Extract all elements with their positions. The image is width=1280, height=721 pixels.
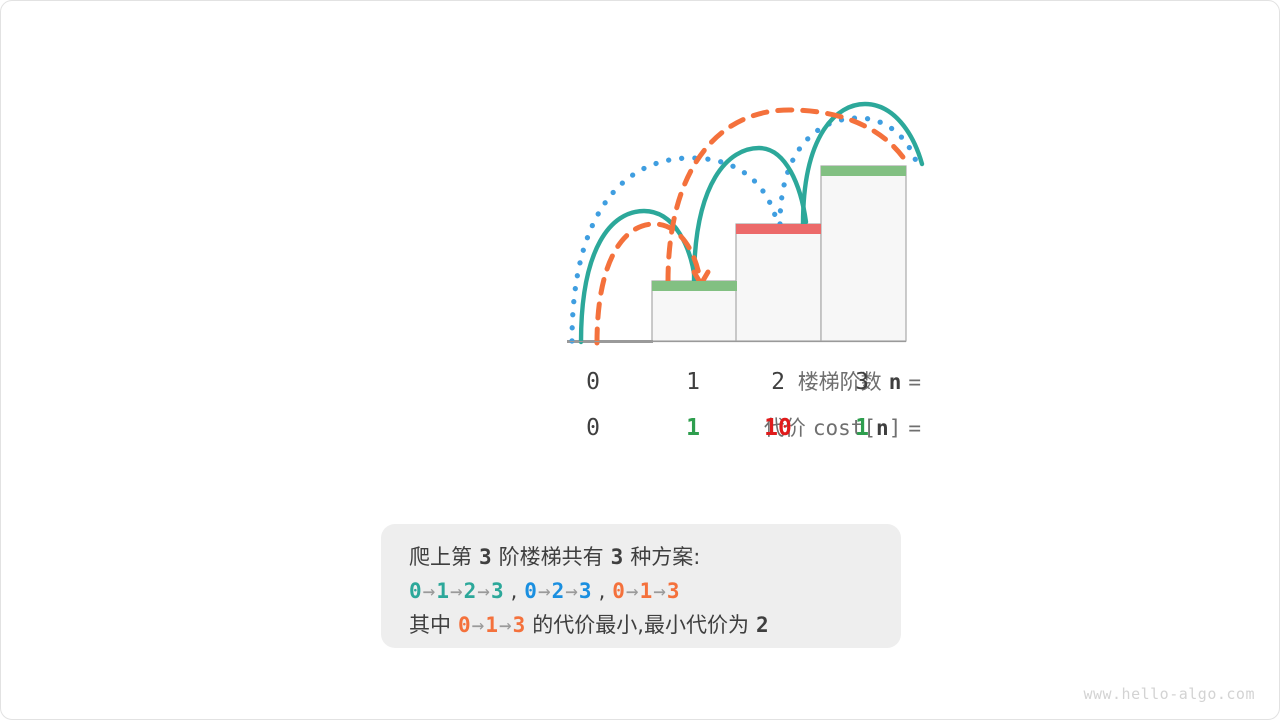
row-label-n-eq: = [908,370,921,394]
path-node: 1 [640,579,653,603]
watermark: www.hello-algo.com [1083,685,1255,703]
path-arrow-icon: → [422,579,437,603]
step-body-2 [736,224,821,341]
path-node: 2 [464,579,477,603]
staircase-diagram [541,96,941,356]
path-0-1-3: 0→1→3 [612,579,679,603]
path-node: 1 [436,579,449,603]
path-node: 3 [667,579,680,603]
path-separator-2: , [592,579,613,603]
step-top-3-green [821,166,906,176]
cell-cost-0: 0 [571,413,615,443]
path-node: 2 [552,579,565,603]
path-arrow-icon: → [498,613,513,637]
line1-prefix: 爬上第 [409,545,472,569]
row-label-n-var: n [889,370,902,394]
path-node: 0 [409,579,422,603]
path-separator-1: , [504,579,525,603]
path-0-2-3: 0→2→3 [524,579,591,603]
path-node: 1 [485,613,498,637]
row-label-cost-post: ] [889,416,902,440]
path-best-0-1-3: 0→1→3 [458,613,525,637]
path-arrow-icon: → [471,613,486,637]
table-row-n: 楼梯阶数n= 0 1 2 3 [301,367,921,413]
path-node: 3 [513,613,526,637]
step-top-1-green [652,281,737,291]
cell-n-3: 3 [840,367,884,397]
line3-prefix: 其中 [409,613,451,637]
path-node: 0 [612,579,625,603]
row-label-n: 楼梯阶数n= [681,367,921,397]
figure-canvas: 楼梯阶数n= 0 1 2 3 代价cost[n]= 0 1 10 1 爬上第3阶… [0,0,1280,720]
explanation-line-1: 爬上第3阶楼梯共有3种方案: [409,540,901,574]
explanation-line-2: 0→1→2→3,0→2→3,0→1→3 [409,574,901,608]
explanation-box: 爬上第3阶楼梯共有3种方案: 0→1→2→3,0→2→3,0→1→3 其中0→1… [381,524,901,648]
value-table: 楼梯阶数n= 0 1 2 3 代价cost[n]= 0 1 10 1 [301,367,921,459]
path-node: 3 [579,579,592,603]
cell-n-2: 2 [756,367,800,397]
step-top-2-red [736,224,821,234]
path-node: 0 [524,579,537,603]
figure-root: 楼梯阶数n= 0 1 2 3 代价cost[n]= 0 1 10 1 爬上第3阶… [1,1,1280,721]
path-arrow-icon: → [476,579,491,603]
line1-n: 3 [479,545,492,569]
row-label-cost: 代价cost[n]= [681,413,921,443]
cell-cost-3: 1 [840,413,884,443]
line3-middle: 的代价最小,最小代价为 [532,613,749,637]
path-node: 0 [458,613,471,637]
line1-suffix: 种方案: [630,545,700,569]
line3-min-cost: 2 [756,613,769,637]
cell-n-0: 0 [571,367,615,397]
path-arrow-icon: → [652,579,667,603]
path-arrow-icon: → [564,579,579,603]
cell-n-1: 1 [671,367,715,397]
path-arrow-icon: → [537,579,552,603]
path-arrow-icon: → [449,579,464,603]
line1-count: 3 [611,545,624,569]
path-node: 3 [491,579,504,603]
explanation-line-3: 其中0→1→3的代价最小,最小代价为2 [409,608,901,642]
cell-cost-2: 10 [756,413,800,443]
row-label-cost-eq: = [908,416,921,440]
path-arrow-icon: → [625,579,640,603]
path-0-1-2-3: 0→1→2→3 [409,579,504,603]
table-row-cost: 代价cost[n]= 0 1 10 1 [301,413,921,459]
step-body-3 [821,166,906,341]
cell-cost-1: 1 [671,413,715,443]
line1-middle: 阶楼梯共有 [499,545,604,569]
